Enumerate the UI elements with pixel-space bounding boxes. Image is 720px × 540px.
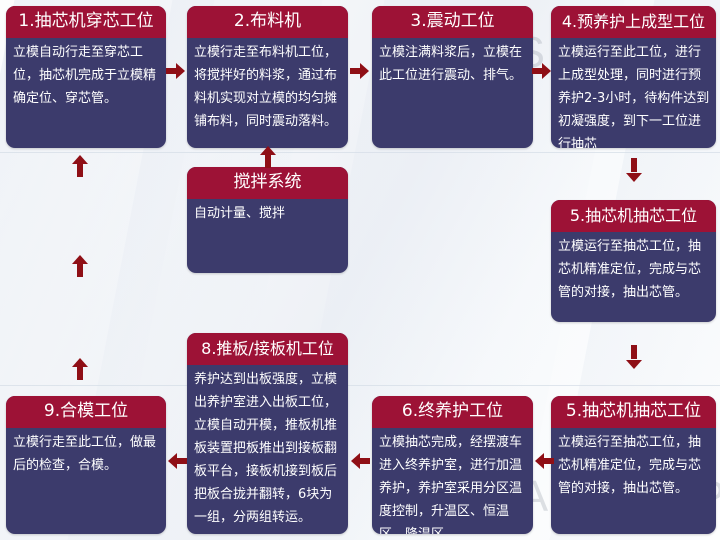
arrow-loop-up-upper bbox=[72, 155, 88, 177]
arrow-station8-to-station9 bbox=[166, 453, 187, 469]
node-station-4[interactable]: 4.预养护上成型工位 立模运行至此工位，进行上成型处理，同时进行预养护2-3小时… bbox=[551, 6, 716, 148]
arrow-loop-up-middle bbox=[72, 255, 88, 277]
node-station-3-title: 3.震动工位 bbox=[372, 6, 533, 38]
arrow-mixing-to-station2 bbox=[260, 146, 276, 168]
node-station-7-body: 立模抽芯完成，经摆渡车进入终养护室，进行加温养护，养护室采用分区温度控制，升温区… bbox=[372, 428, 533, 534]
node-station-1-title: 1.抽芯机穿芯工位 bbox=[6, 6, 166, 38]
arrow-station4-to-station5 bbox=[626, 158, 642, 182]
node-station-7-title: 6.终养护工位 bbox=[372, 396, 533, 428]
node-station-4-title: 4.预养护上成型工位 bbox=[551, 6, 716, 38]
arrow-station1-to-station2 bbox=[166, 63, 187, 79]
arrow-station5-to-station6 bbox=[626, 345, 642, 369]
node-mixing-system-title: 搅拌系统 bbox=[187, 167, 348, 199]
arrow-station7-to-station8 bbox=[349, 453, 370, 469]
node-station-1[interactable]: 1.抽芯机穿芯工位 立模自动行走至穿芯工位，抽芯机完成于立模精确定位、穿芯管。 bbox=[6, 6, 166, 148]
node-station-5-title: 5.抽芯机抽芯工位 bbox=[551, 200, 716, 232]
node-station-5[interactable]: 5.抽芯机抽芯工位 立模运行至抽芯工位，抽芯机精准定位，完成与芯管的对接，抽出芯… bbox=[551, 200, 716, 322]
node-mixing-system-body: 自动计量、搅拌 bbox=[187, 199, 348, 229]
node-station-2-title: 2.布料机 bbox=[187, 6, 348, 38]
flowchart-canvas: NEWS PHOTO MANA COMPANY 1.抽芯机穿芯工位 立模自动行走… bbox=[0, 0, 720, 540]
node-mixing-system[interactable]: 搅拌系统 自动计量、搅拌 bbox=[187, 167, 348, 273]
background-divider bbox=[0, 152, 720, 153]
node-station-3-body: 立模注满料浆后，立模在此工位进行震动、排气。 bbox=[372, 38, 533, 91]
arrow-loop-up-lower bbox=[72, 358, 88, 380]
node-station-3[interactable]: 3.震动工位 立模注满料浆后，立模在此工位进行震动、排气。 bbox=[372, 6, 533, 148]
node-station-8[interactable]: 8.推板/接板机工位 养护达到出板强度，立模出养护室进入出板工位，立模自动开模，… bbox=[187, 333, 348, 534]
arrow-station2-to-station3 bbox=[350, 63, 371, 79]
node-station-8-title: 8.推板/接板机工位 bbox=[187, 333, 348, 365]
node-station-6-body: 立模运行至抽芯工位，抽芯机精准定位，完成与芯管的对接，抽出芯管。 bbox=[551, 428, 716, 504]
background-divider bbox=[0, 385, 720, 386]
node-station-2[interactable]: 2.布料机 立模行走至布料机工位，将搅拌好的料浆，通过布料机实现对立模的均匀摊铺… bbox=[187, 6, 348, 148]
node-station-5-body: 立模运行至抽芯工位，抽芯机精准定位，完成与芯管的对接，抽出芯管。 bbox=[551, 232, 716, 308]
node-station-4-body: 立模运行至此工位，进行上成型处理，同时进行预养护2-3小时，待构件达到初凝强度，… bbox=[551, 38, 716, 148]
node-station-9[interactable]: 9.合模工位 立模行走至此工位，做最后的检查，合模。 bbox=[6, 396, 166, 534]
node-station-6[interactable]: 5.抽芯机抽芯工位 立模运行至抽芯工位，抽芯机精准定位，完成与芯管的对接，抽出芯… bbox=[551, 396, 716, 534]
node-station-6-title: 5.抽芯机抽芯工位 bbox=[551, 396, 716, 428]
node-station-7[interactable]: 6.终养护工位 立模抽芯完成，经摆渡车进入终养护室，进行加温养护，养护室采用分区… bbox=[372, 396, 533, 534]
node-station-2-body: 立模行走至布料机工位，将搅拌好的料浆，通过布料机实现对立模的均匀摊铺布料，同时震… bbox=[187, 38, 348, 137]
node-station-1-body: 立模自动行走至穿芯工位，抽芯机完成于立模精确定位、穿芯管。 bbox=[6, 38, 166, 114]
node-station-8-body: 养护达到出板强度，立模出养护室进入出板工位，立模自动开模，推板机推板装置把板推出… bbox=[187, 365, 348, 533]
node-station-9-title: 9.合模工位 bbox=[6, 396, 166, 428]
arrow-station3-to-station4 bbox=[532, 63, 553, 79]
node-station-9-body: 立模行走至此工位，做最后的检查，合模。 bbox=[6, 428, 166, 481]
